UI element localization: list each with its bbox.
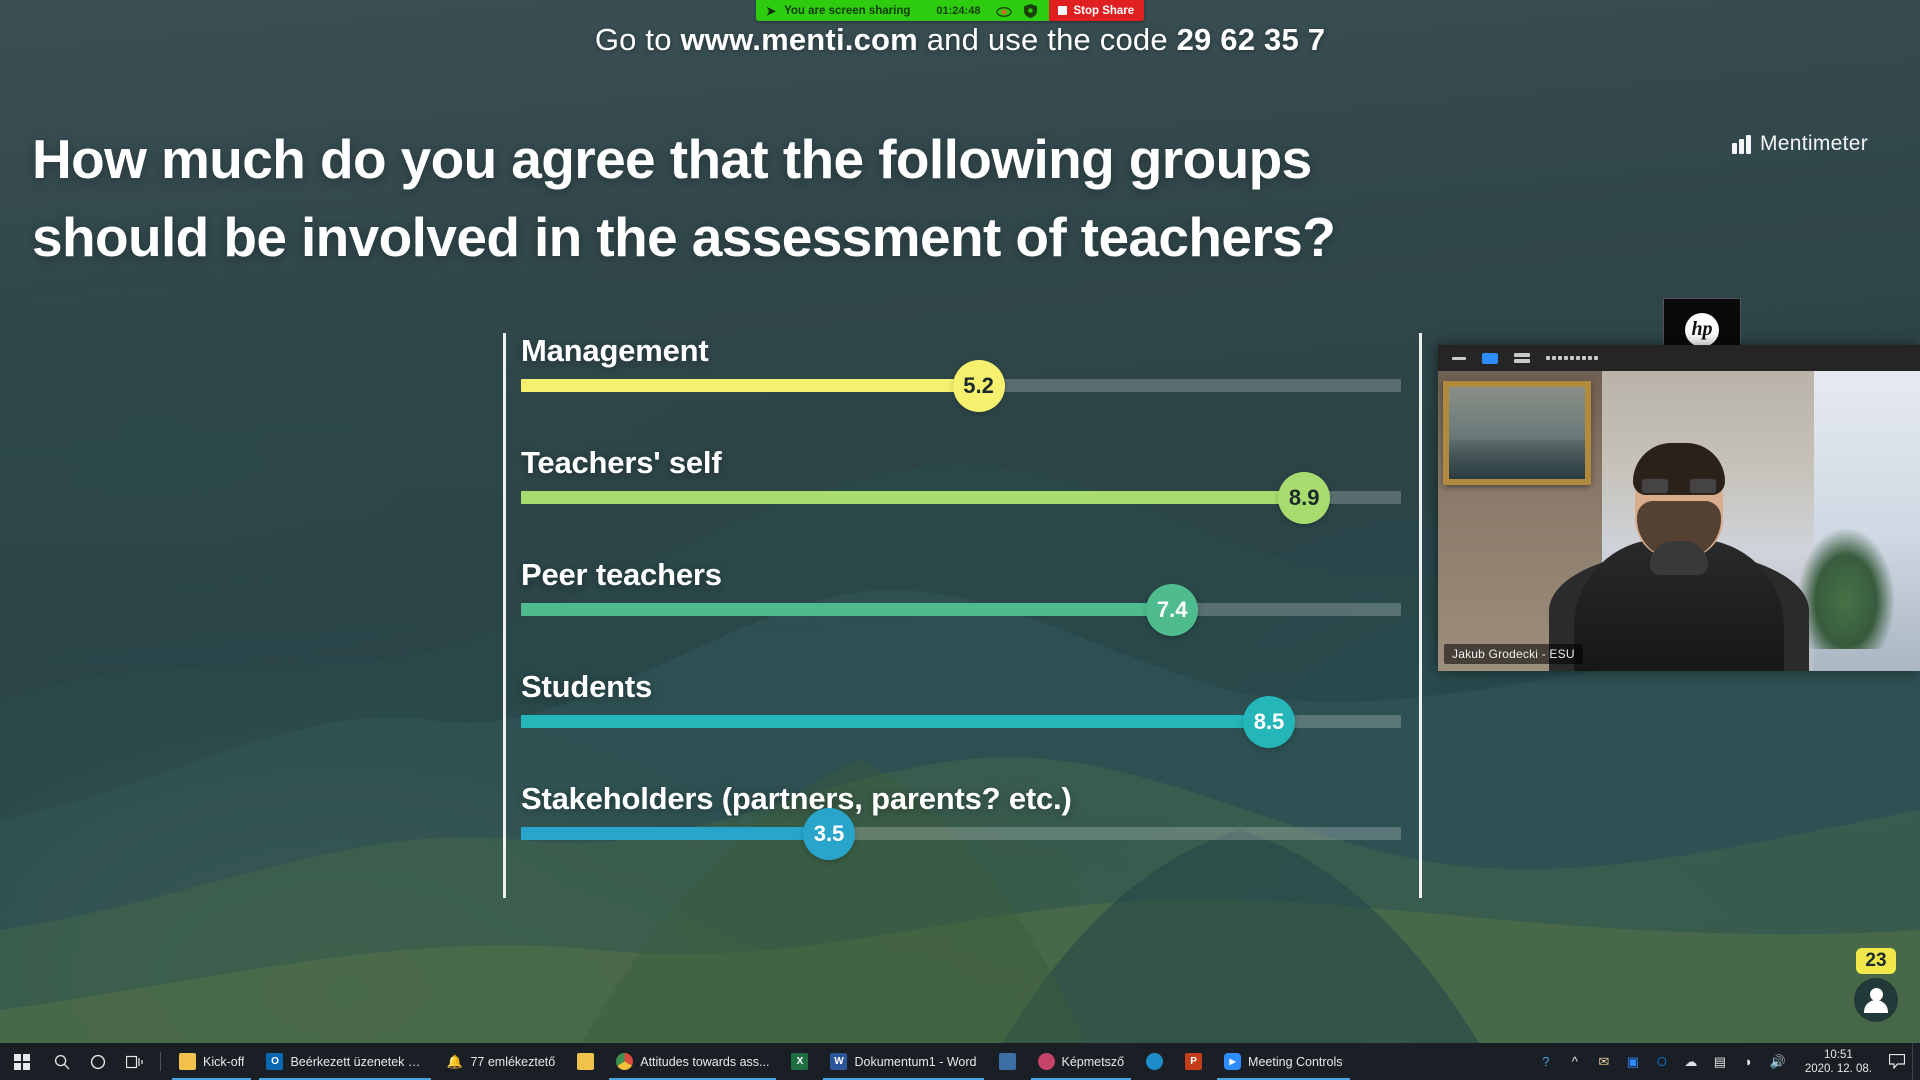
clock-date: 2020. 12. 08. bbox=[1805, 1062, 1872, 1076]
taskbar-item-folder[interactable]: Kick-off bbox=[168, 1043, 255, 1080]
action-center-icon[interactable] bbox=[1882, 1043, 1912, 1080]
folder-icon bbox=[179, 1053, 196, 1070]
chart-bar-track: 8.9 bbox=[521, 491, 1401, 504]
speaker-view-icon[interactable] bbox=[1482, 353, 1498, 364]
zoom-video-icon: ▶ bbox=[1224, 1053, 1241, 1070]
wifi-icon[interactable]: ◗ bbox=[1736, 1043, 1762, 1080]
taskbar-item-app[interactable] bbox=[988, 1043, 1027, 1080]
taskbar-item-excel[interactable]: X bbox=[780, 1043, 819, 1080]
mail-icon[interactable]: ✉ bbox=[1591, 1043, 1617, 1080]
participant-counter: 23 bbox=[1854, 948, 1898, 1022]
participant-collar bbox=[1650, 541, 1708, 575]
powerpoint-icon: P bbox=[1185, 1053, 1202, 1070]
mentimeter-bars-icon bbox=[1732, 135, 1751, 154]
shield-icon[interactable] bbox=[1018, 4, 1043, 18]
snipping-tool-icon bbox=[1038, 1053, 1055, 1070]
excel-icon: X bbox=[791, 1053, 808, 1070]
participant-glasses bbox=[1640, 477, 1718, 495]
page-title-line-1: How much do you agree that the following… bbox=[32, 120, 1552, 198]
mentimeter-logo: Mentimeter bbox=[1732, 132, 1868, 156]
chart-bar-track: 7.4 bbox=[521, 603, 1401, 616]
show-desktop-button[interactable] bbox=[1912, 1043, 1920, 1080]
page-title: How much do you agree that the following… bbox=[32, 120, 1552, 276]
search-icon bbox=[54, 1054, 70, 1070]
taskbar-item-label: Dokumentum1 - Word bbox=[854, 1055, 976, 1069]
video-plant bbox=[1798, 529, 1894, 649]
chart-bar-row: Peer teachers7.4 bbox=[521, 557, 1401, 616]
stop-share-label: Stop Share bbox=[1073, 5, 1134, 17]
participant-name-tag: Jakub Grodecki - ESU bbox=[1444, 644, 1583, 664]
participant-count-badge: 23 bbox=[1856, 948, 1895, 974]
chart-bar-row: Students8.5 bbox=[521, 669, 1401, 728]
zoom-video-toolbar bbox=[1438, 345, 1920, 371]
menti-code: 29 62 35 7 bbox=[1177, 22, 1326, 57]
screen-sharing-bar: ➤ You are screen sharing 01:24:48 Stop S… bbox=[756, 0, 1144, 21]
menti-prefix: Go to bbox=[595, 22, 681, 57]
taskbar-item-label: Meeting Controls bbox=[1248, 1055, 1343, 1069]
video-painting bbox=[1443, 381, 1591, 485]
chart-bar-value-bubble: 8.5 bbox=[1243, 696, 1295, 748]
windows-logo-icon bbox=[14, 1054, 30, 1070]
zoom-video-panel[interactable]: Jakub Grodecki - ESU bbox=[1438, 345, 1920, 671]
taskbar-item-skype[interactable] bbox=[1135, 1043, 1174, 1080]
mentimeter-wordmark: Mentimeter bbox=[1760, 132, 1868, 156]
windows-taskbar: Kick-offOBeérkezett üzenetek –...🔔77 eml… bbox=[0, 1043, 1920, 1080]
cloud-recording-icon[interactable] bbox=[990, 5, 1018, 17]
chart-bar-track: 3.5 bbox=[521, 827, 1401, 840]
circle-icon bbox=[90, 1054, 106, 1070]
taskbar-item-powerpoint[interactable]: P bbox=[1174, 1043, 1213, 1080]
task-view-icon bbox=[126, 1055, 143, 1069]
battery-icon[interactable]: ▤ bbox=[1707, 1043, 1733, 1080]
taskbar-divider bbox=[160, 1052, 161, 1071]
sharing-status-text: You are screen sharing bbox=[784, 5, 936, 17]
chart-bar-fill bbox=[521, 379, 979, 392]
taskbar-item-word[interactable]: WDokumentum1 - Word bbox=[819, 1043, 987, 1080]
menti-middle: and use the code bbox=[918, 22, 1177, 57]
chart-bar-row: Stakeholders (partners, parents? etc.)3.… bbox=[521, 781, 1401, 840]
clock-time: 10:51 bbox=[1805, 1048, 1872, 1062]
taskbar-item-chrome[interactable]: Attitudes towards ass... bbox=[605, 1043, 780, 1080]
chart-bar-label: Management bbox=[521, 333, 1401, 369]
skype-icon bbox=[1146, 1053, 1163, 1070]
person-icon bbox=[1854, 978, 1898, 1022]
share-arrow-icon: ➤ bbox=[756, 4, 784, 18]
chart-bar-track: 5.2 bbox=[521, 379, 1401, 392]
reminder-bell-icon: 🔔 bbox=[446, 1053, 463, 1070]
taskbar-item-label: 77 emlékeztető bbox=[470, 1055, 555, 1069]
chart-bar-value-bubble: 5.2 bbox=[953, 360, 1005, 412]
zoom-tray-icon[interactable]: ▣ bbox=[1620, 1043, 1646, 1080]
chart-bar-fill bbox=[521, 603, 1172, 616]
video-feed: Jakub Grodecki - ESU bbox=[1438, 371, 1920, 671]
chart-bar-value-bubble: 3.5 bbox=[803, 808, 855, 860]
taskbar-task-list: Kick-offOBeérkezett üzenetek –...🔔77 eml… bbox=[168, 1043, 1354, 1080]
chart-bar-label: Stakeholders (partners, parents? etc.) bbox=[521, 781, 1401, 817]
chart-bar-row: Teachers' self8.9 bbox=[521, 445, 1401, 504]
taskbar-item-label: Kick-off bbox=[203, 1055, 244, 1069]
strip-view-icon[interactable] bbox=[1514, 353, 1530, 363]
chart-bar-label: Teachers' self bbox=[521, 445, 1401, 481]
taskbar-item-label: Beérkezett üzenetek –... bbox=[290, 1055, 424, 1069]
sharing-timer: 01:24:48 bbox=[936, 5, 990, 17]
chart-axis-left bbox=[503, 333, 506, 898]
chart-bar-value-bubble: 8.9 bbox=[1278, 472, 1330, 524]
results-bar-chart: Management5.2Teachers' self8.9Peer teach… bbox=[503, 333, 1403, 898]
chart-bar-fill bbox=[521, 491, 1304, 504]
chart-bar-row: Management5.2 bbox=[521, 333, 1401, 392]
microsoft-store-icon bbox=[577, 1053, 594, 1070]
app-icon bbox=[999, 1053, 1016, 1070]
minimize-icon[interactable] bbox=[1452, 357, 1466, 360]
outlook-tray-icon[interactable]: O bbox=[1649, 1043, 1675, 1080]
outlook-icon: O bbox=[266, 1053, 283, 1070]
cortana-button[interactable] bbox=[80, 1043, 116, 1080]
chart-axis-right bbox=[1419, 333, 1422, 898]
taskbar-item-microsoft-store[interactable] bbox=[566, 1043, 605, 1080]
word-icon: W bbox=[830, 1053, 847, 1070]
chart-bar-label: Peer teachers bbox=[521, 557, 1401, 593]
stop-square-icon bbox=[1058, 6, 1067, 15]
taskbar-item-snipping-tool[interactable]: Képmetsző bbox=[1027, 1043, 1136, 1080]
stop-share-button[interactable]: Stop Share bbox=[1049, 0, 1144, 21]
volume-icon[interactable]: 🔊 bbox=[1765, 1043, 1791, 1080]
system-tray: ?^✉▣O☁▤◗🔊 bbox=[1533, 1043, 1795, 1080]
chart-bar-fill bbox=[521, 827, 829, 840]
taskbar-item-zoom-video[interactable]: ▶Meeting Controls bbox=[1213, 1043, 1354, 1080]
menti-instruction-line: Go to www.menti.com and use the code 29 … bbox=[0, 22, 1920, 58]
taskbar-item-label: Attitudes towards ass... bbox=[640, 1055, 769, 1069]
taskbar-item-label: Képmetsző bbox=[1062, 1055, 1125, 1069]
help-alert-icon[interactable]: ? bbox=[1533, 1043, 1559, 1080]
menti-url: www.menti.com bbox=[680, 22, 917, 57]
chart-bar-track: 8.5 bbox=[521, 715, 1401, 728]
show-hidden-icons-chevron[interactable]: ^ bbox=[1562, 1043, 1588, 1080]
taskbar-item-reminder-bell[interactable]: 🔔77 emlékeztető bbox=[435, 1043, 566, 1080]
task-view-button[interactable] bbox=[116, 1043, 153, 1080]
chrome-icon bbox=[616, 1053, 633, 1070]
gallery-grid-icon[interactable] bbox=[1546, 356, 1598, 360]
taskbar-item-outlook[interactable]: OBeérkezett üzenetek –... bbox=[255, 1043, 435, 1080]
search-button[interactable] bbox=[44, 1043, 80, 1080]
chart-bar-value-bubble: 7.4 bbox=[1146, 584, 1198, 636]
page-title-line-2: should be involved in the assessment of … bbox=[32, 198, 1552, 276]
hp-logo-icon: hp bbox=[1685, 313, 1719, 347]
start-button[interactable] bbox=[0, 1043, 44, 1080]
taskbar-clock[interactable]: 10:51 2020. 12. 08. bbox=[1795, 1048, 1882, 1076]
chart-bar-fill bbox=[521, 715, 1269, 728]
onedrive-icon[interactable]: ☁ bbox=[1678, 1043, 1704, 1080]
